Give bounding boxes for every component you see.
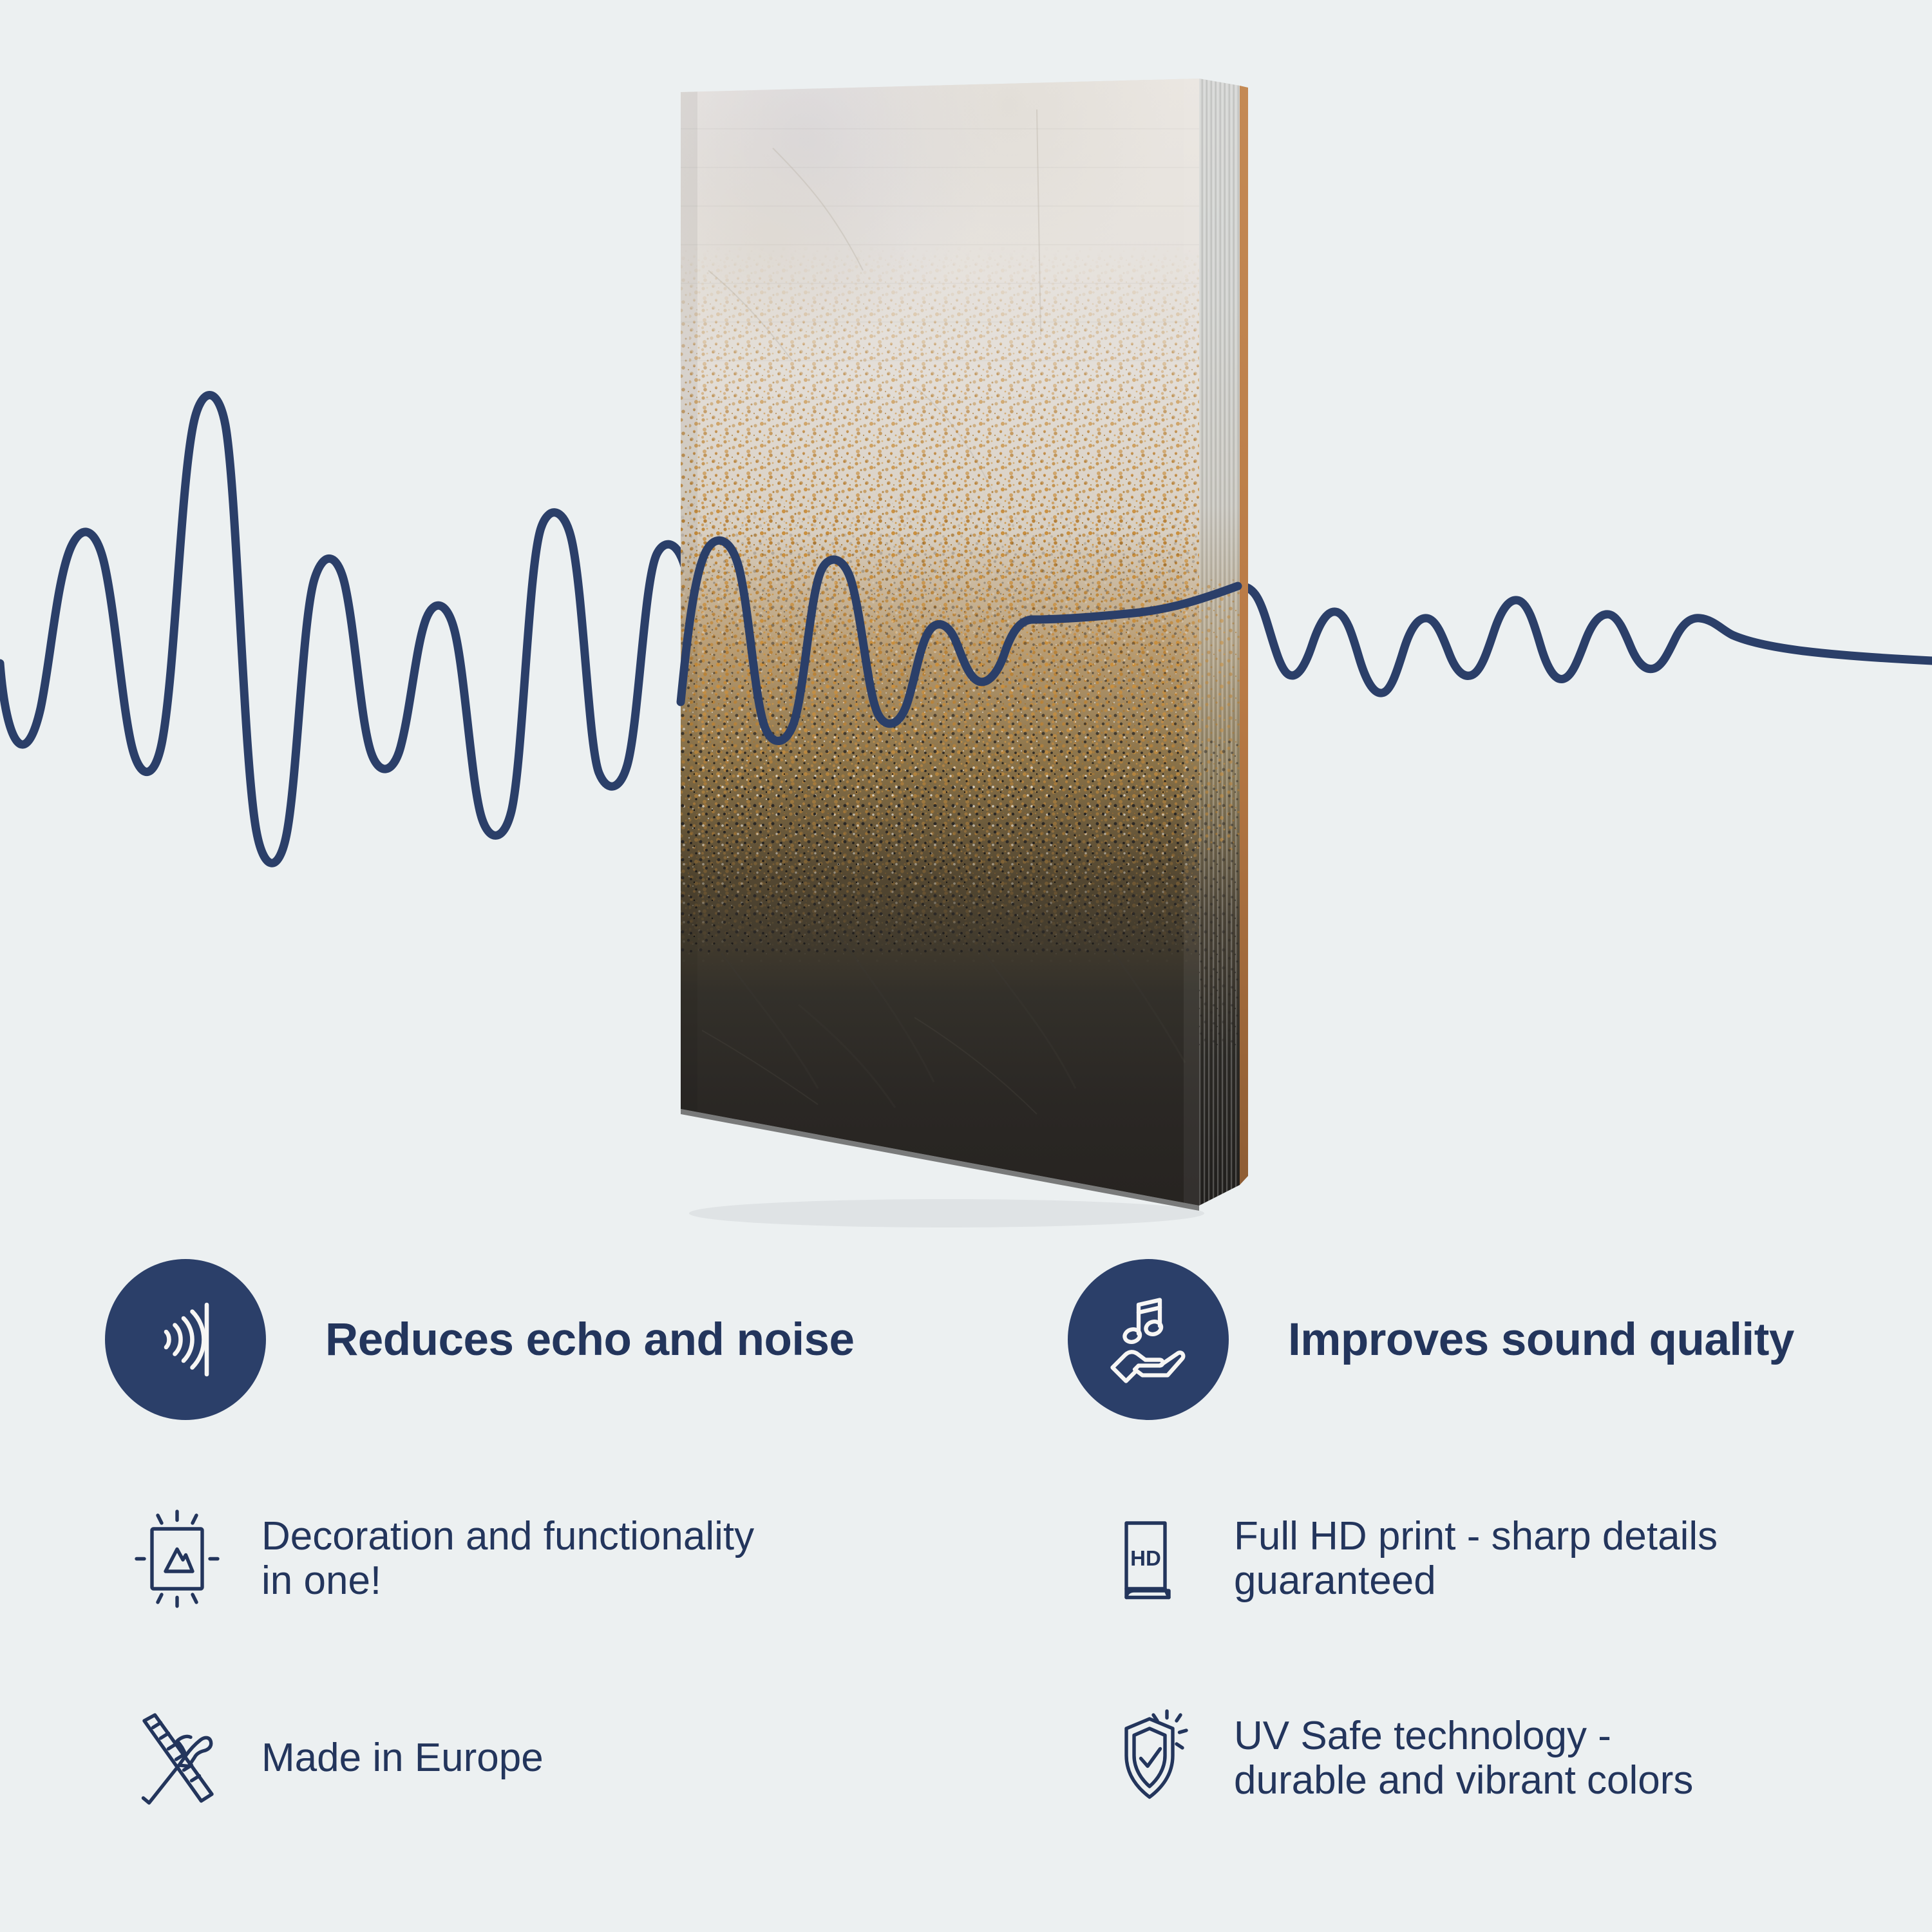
feature-icon-wrap: HD [1088, 1494, 1211, 1623]
feature-label: Made in Europe [261, 1736, 544, 1780]
badge-circle [105, 1259, 266, 1420]
badge-circle [1068, 1259, 1229, 1420]
hd-canvas-icon: HD [1101, 1506, 1198, 1612]
feature-row-made-in-europe[interactable]: Made in Europe [116, 1694, 544, 1823]
hd-badge-text: HD [1130, 1546, 1161, 1570]
feature-row-uv-safe[interactable]: UV Safe technology - durable and vibrant… [1088, 1694, 1693, 1823]
shield-check-sun-icon [1101, 1705, 1198, 1812]
badge-reduces-echo[interactable]: Reduces echo and noise [105, 1259, 855, 1420]
headline-badges: Reduces echo and noise [0, 1259, 1932, 1426]
ruler-hammer-icon [129, 1705, 225, 1812]
feature-icon-wrap [116, 1694, 238, 1823]
feature-icon-wrap [1088, 1694, 1211, 1823]
feature-row-decoration[interactable]: Decoration and functionality in one! [116, 1494, 754, 1623]
feature-label: UV Safe technology - durable and vibrant… [1234, 1714, 1693, 1803]
feature-icon-wrap [116, 1494, 238, 1623]
sound-waves-wall-icon [137, 1291, 234, 1388]
feature-label: Decoration and functionality in one! [261, 1514, 754, 1604]
music-note-hand-icon [1100, 1291, 1197, 1388]
framed-picture-shine-icon [129, 1506, 225, 1612]
canvas-warm-back-stripe [1240, 86, 1248, 1185]
product-feature-poster: Reduces echo and noise [0, 0, 1932, 1932]
badge-label: Reduces echo and noise [325, 1314, 855, 1366]
badge-label: Improves sound quality [1288, 1314, 1794, 1366]
badge-improves-sound[interactable]: Improves sound quality [1068, 1259, 1794, 1420]
feature-label: Full HD print - sharp details guaranteed [1234, 1514, 1718, 1604]
canvas-print-product [0, 0, 1932, 1932]
feature-row-full-hd[interactable]: HD Full HD print - sharp details guarant… [1088, 1494, 1718, 1623]
